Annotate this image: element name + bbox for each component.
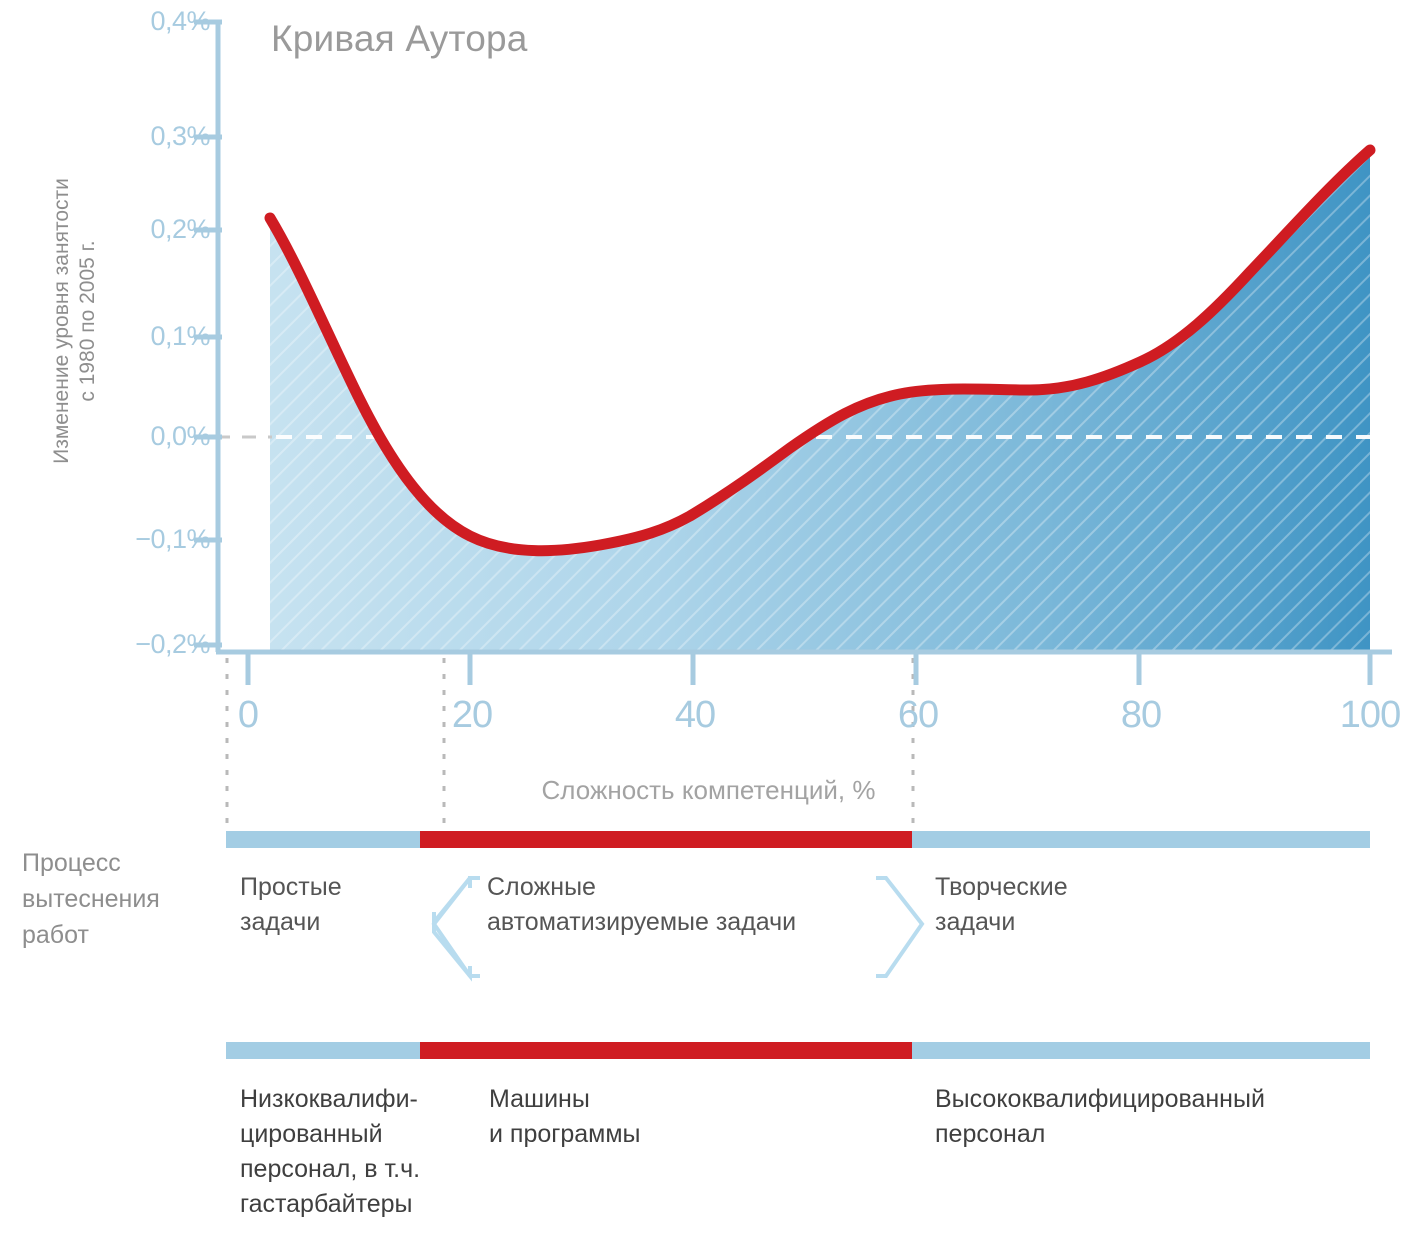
x-tick-label: 40 <box>675 694 715 737</box>
y-tick-label: −0,2% <box>100 629 210 660</box>
label-machines-and-programs: Машины и программы <box>489 1082 819 1152</box>
label-simple-tasks: Простые задачи <box>240 870 440 940</box>
bar-segment-high-skill <box>912 1042 1370 1059</box>
label-low-skill-personnel: Низкоквалифи- цированный персонал, в т.ч… <box>240 1082 470 1222</box>
process-bar-row-2 <box>226 1042 1370 1059</box>
y-tick-label: 0,3% <box>110 121 210 152</box>
chart-title: Кривая Аутора <box>271 18 528 60</box>
process-bar-row-1 <box>226 831 1370 848</box>
x-tick-label: 80 <box>1121 694 1161 737</box>
y-tick-label: 0,1% <box>110 321 210 352</box>
bar-segment-simple-tasks <box>226 831 420 848</box>
bar-segment-machines <box>420 1042 912 1059</box>
infographic-root: Кривая Аутора Изменение уровня занятости… <box>0 0 1417 1235</box>
panel-title: Процесс вытеснения работ <box>22 845 222 953</box>
x-tick-label: 60 <box>898 694 938 737</box>
x-tick-label: 20 <box>452 694 492 737</box>
area-fill <box>270 150 1370 650</box>
y-tick-label: 0,0% <box>110 421 210 452</box>
x-tick-label: 100 <box>1340 694 1400 737</box>
x-tick-label: 0 <box>238 694 258 737</box>
label-creative-tasks: Творческие задачи <box>935 870 1195 940</box>
x-axis-label: Сложность компетенций, % <box>0 775 1417 806</box>
y-tick-label: 0,2% <box>110 214 210 245</box>
arrow-right-icon <box>872 866 932 988</box>
y-tick-label: −0,1% <box>100 524 210 555</box>
bar-segment-low-skill <box>226 1042 420 1059</box>
x-tick-marks <box>248 650 1370 685</box>
bar-segment-creative-tasks <box>912 831 1370 848</box>
y-tick-label: 0,4% <box>110 6 210 37</box>
y-tick-labels: 0,4% 0,3% 0,2% 0,1% 0,0% −0,1% −0,2% <box>110 0 210 700</box>
label-automatable-tasks: Сложные автоматизируемые задачи <box>487 870 917 940</box>
label-high-skill-personnel: Высококвалифицированный персонал <box>935 1082 1385 1152</box>
y-axis-label: Изменение уровня занятости с 1980 по 200… <box>49 111 101 531</box>
chart-area: Кривая Аутора Изменение уровня занятости… <box>0 0 1417 830</box>
bar-segment-automatable-tasks <box>420 831 912 848</box>
arrow-left-icon <box>424 866 484 988</box>
